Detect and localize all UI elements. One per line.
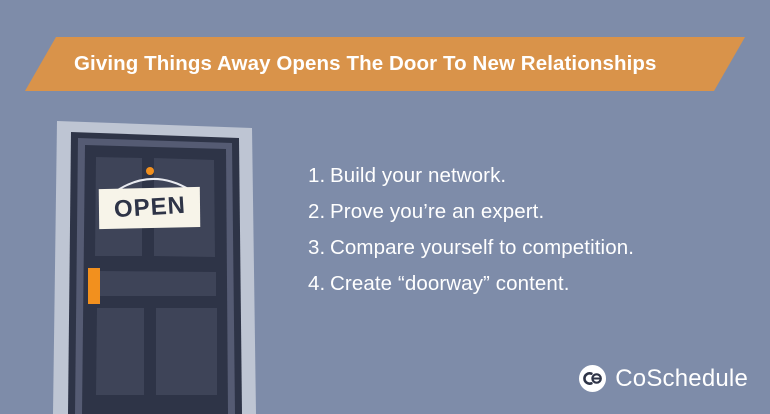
- list-item-label: Create “doorway” content.: [330, 272, 570, 295]
- coschedule-wordmark: CoSchedule: [615, 367, 748, 391]
- list-item: 4.Create “doorway” content.: [308, 266, 728, 302]
- page-title: Giving Things Away Opens The Door To New…: [74, 37, 657, 91]
- door-illustration-svg: OPEN: [40, 108, 275, 414]
- door-panel-bottom-left: [96, 308, 144, 395]
- list-item-label: Compare yourself to competition.: [330, 236, 634, 259]
- door-panel-bottom-right: [156, 308, 217, 395]
- list-item-number: 2.: [308, 194, 330, 230]
- door-illustration: OPEN: [40, 108, 275, 414]
- sign-nail: [146, 167, 154, 175]
- door-handle: [88, 268, 100, 304]
- list-item: 3.Compare yourself to competition.: [308, 230, 728, 266]
- slide-canvas: Giving Things Away Opens The Door To New…: [0, 0, 770, 414]
- list-item: 2.Prove you’re an expert.: [308, 194, 728, 230]
- title-banner: Giving Things Away Opens The Door To New…: [0, 37, 770, 91]
- open-sign: OPEN: [97, 183, 202, 233]
- open-sign-text: OPEN: [113, 192, 187, 223]
- list-item-number: 3.: [308, 230, 330, 266]
- list-item-number: 4.: [308, 266, 330, 302]
- tips-list: 1.Build your network. 2.Prove you’re an …: [308, 158, 728, 302]
- list-item: 1.Build your network.: [308, 158, 728, 194]
- list-item-number: 1.: [308, 158, 330, 194]
- list-item-label: Build your network.: [330, 164, 506, 187]
- list-item-label: Prove you’re an expert.: [330, 200, 544, 223]
- door-panel-middle: [98, 271, 216, 296]
- coschedule-logo: CoSchedule: [579, 365, 748, 392]
- coschedule-mark-icon: [579, 365, 606, 392]
